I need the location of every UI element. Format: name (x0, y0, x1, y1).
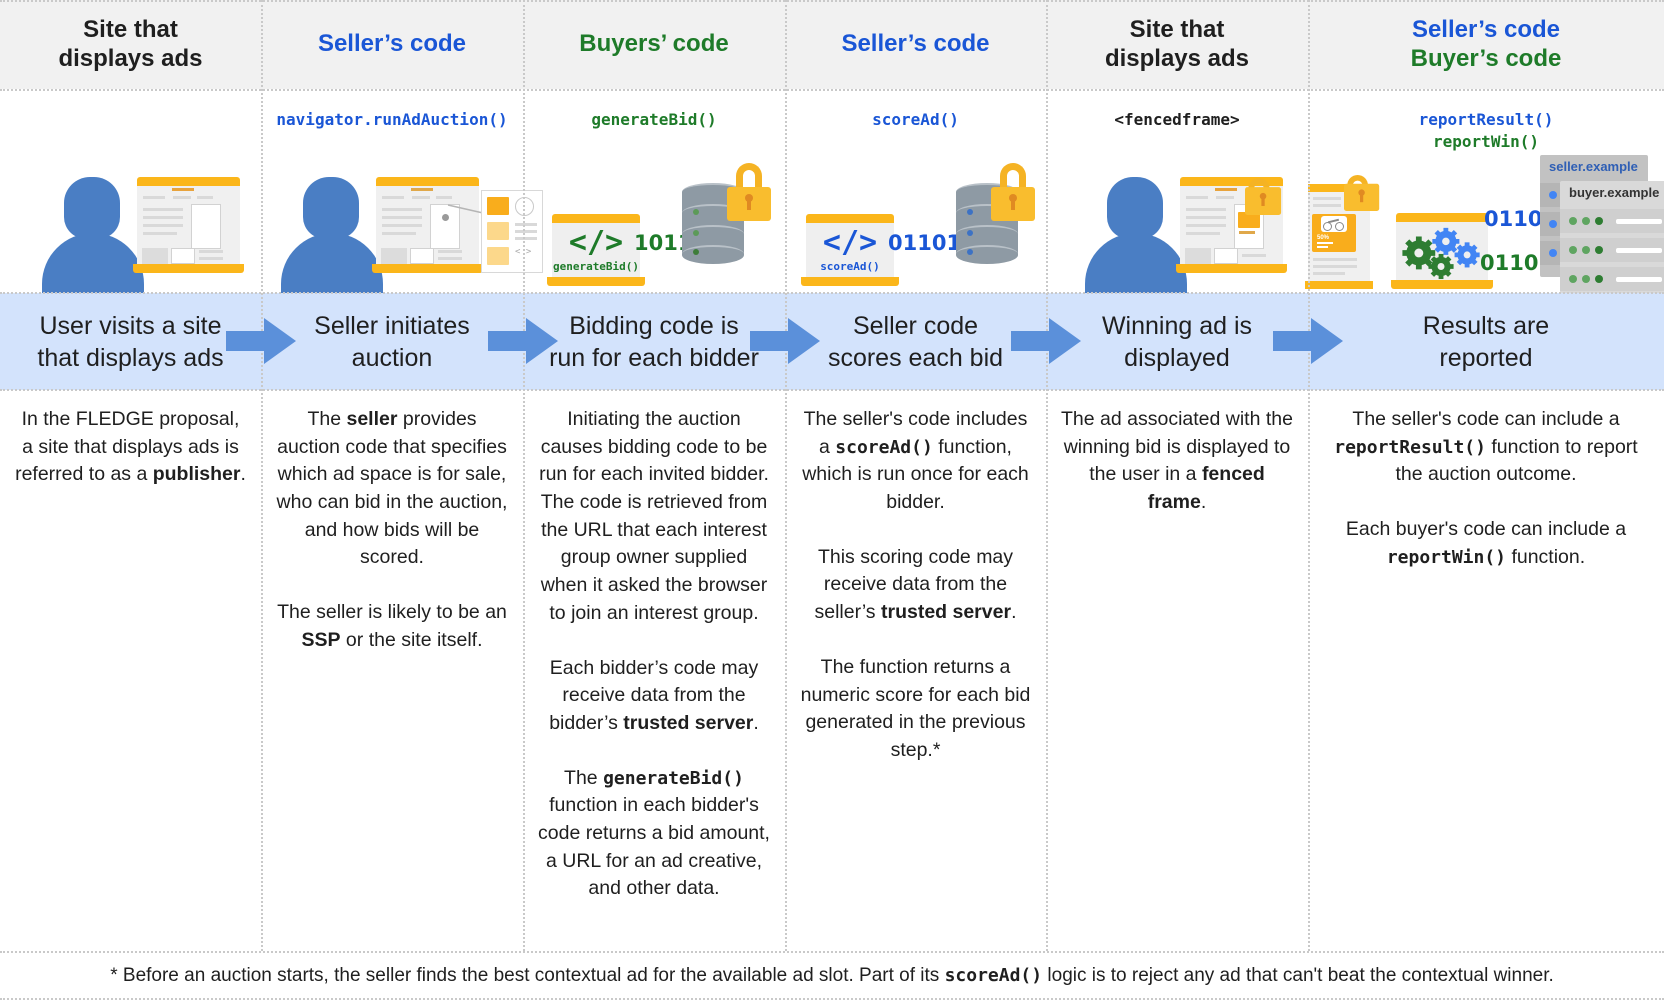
page-line (1216, 196, 1234, 199)
card-base (801, 277, 899, 286)
description-paragraph: The function returns a numeric score for… (799, 654, 1032, 765)
laptop-top-bar (137, 177, 240, 186)
laptop-base (133, 264, 244, 273)
padlock-body (991, 187, 1035, 221)
description-paragraph: The seller provides auction code that sp… (275, 406, 509, 572)
flow-arrow (226, 318, 296, 364)
api-name: scoreAd() (872, 109, 959, 131)
illustration-score-ad: </> scoreAd() 0110111 (806, 153, 1031, 293)
step-line: User visits a site (37, 310, 223, 342)
page-heading-accent (172, 188, 194, 191)
db-indicator (693, 249, 699, 255)
code-brackets-icon: </> (823, 228, 877, 258)
column-divider (785, 0, 787, 951)
illustration-row: < > </> generateBid() 1011110 (0, 148, 1664, 293)
card-screen: </> generateBid() (552, 223, 640, 277)
header-line: Site that (83, 16, 178, 44)
step-line: that displays ads (37, 342, 223, 374)
server-indicator (1595, 275, 1603, 283)
padlock-icon (1344, 175, 1371, 211)
page-line (173, 196, 191, 199)
code-card-label: generateBid() (553, 260, 639, 273)
page-line (143, 216, 183, 219)
column-divider (523, 0, 525, 951)
header-row: Site thatdisplays adsSeller’s codeBuyers… (0, 0, 1664, 89)
server-row (1560, 267, 1664, 291)
server-indicator (1569, 246, 1577, 254)
step-label-6: Results arereported (1308, 293, 1664, 390)
db-disk (682, 225, 744, 244)
step-line: run for each bidder (549, 342, 759, 374)
api-label-3: generateBid() (523, 89, 785, 154)
step-line: scores each bid (828, 342, 1003, 374)
server-indicator (1582, 275, 1590, 283)
person-body (1085, 233, 1187, 293)
code-card-generate-bid: </> generateBid() (552, 214, 640, 286)
page-heading-accent (1215, 188, 1237, 191)
description-paragraph: This scoring code may receive data from … (799, 544, 1032, 627)
panel-line (515, 230, 537, 233)
ad-slot (191, 204, 221, 249)
server-bar (1616, 248, 1662, 253)
padlock-body (727, 187, 771, 221)
api-name: generateBid() (591, 109, 716, 131)
person-body (42, 233, 144, 293)
header-line: displays ads (58, 45, 202, 73)
padlock-icon (727, 163, 771, 221)
server-indicator (1582, 246, 1590, 254)
step-line: Seller code (828, 310, 1003, 342)
step-label-1: User visits a sitethat displays ads (0, 293, 261, 390)
code-brackets-icon: </> (569, 228, 623, 258)
step-label-5: Winning ad isdisplayed (1046, 293, 1308, 390)
description-paragraph: The seller's code can include a reportRe… (1322, 406, 1650, 489)
ad-line (1239, 231, 1255, 234)
card-base (1391, 280, 1493, 289)
description-cell-1: In the FLEDGE proposal, a site that disp… (0, 390, 261, 952)
page-line (1186, 232, 1220, 235)
illustration-user-browsing (42, 153, 242, 293)
api-label-row: navigator.runAdAuction()generateBid()sco… (0, 89, 1664, 148)
description-paragraph: The generateBid() function in each bidde… (537, 765, 771, 903)
step-label-2: Seller initiatesauction (261, 293, 523, 390)
page-line (143, 232, 177, 235)
page-line (1186, 224, 1226, 227)
footnote: * Before an auction starts, the seller f… (0, 952, 1664, 1000)
server-row (1560, 209, 1664, 233)
api-name: navigator.runAdAuction() (276, 109, 507, 131)
padlock-keyhole (1260, 193, 1267, 200)
column-header-5: Site thatdisplays ads (1046, 0, 1308, 89)
server-row (1560, 238, 1664, 262)
flow-arrow (488, 318, 558, 364)
ad-discount-label: 50% (1317, 235, 1329, 241)
page-line (143, 208, 183, 211)
db-disk (682, 245, 744, 264)
step-label-4: Seller codescores each bid (785, 293, 1046, 390)
page-line (143, 196, 165, 199)
laptop-base (1176, 264, 1287, 273)
divider-band-top (0, 292, 1664, 294)
db-indicator (693, 230, 699, 236)
server-name: seller.example (1540, 155, 1648, 178)
bidder-row (487, 247, 509, 265)
api-label-1 (0, 89, 261, 154)
flow-diagram: Site thatdisplays adsSeller’s codeBuyers… (0, 0, 1664, 1000)
panel-line (515, 237, 537, 240)
person-head (1107, 177, 1163, 239)
api-name: <fencedframe> (1114, 109, 1239, 131)
column-divider (261, 0, 263, 951)
illustration-reporting: 50% (1308, 153, 1664, 293)
padlock-body (1344, 184, 1379, 211)
column-header-6: Seller’s codeBuyer’s code (1308, 0, 1664, 89)
description-paragraph: The seller's code includes a scoreAd() f… (799, 406, 1032, 517)
page-line (1313, 258, 1357, 261)
illustration-winning-ad (1085, 153, 1290, 293)
server-indicator (1549, 249, 1557, 257)
page-image-block (142, 248, 168, 264)
step-line: displayed (1102, 342, 1252, 374)
api-label-5: <fencedframe> (1046, 89, 1308, 154)
server-indicator (1549, 220, 1557, 228)
flow-arrow (1273, 318, 1343, 364)
padlock-keyhole (1358, 189, 1364, 195)
page-line (197, 196, 213, 199)
interest-group-list-panel: < > (481, 190, 543, 273)
description-row: In the FLEDGE proposal, a site that disp… (0, 390, 1664, 952)
db-indicator (967, 249, 973, 255)
db-disk (956, 245, 1018, 264)
column-header-4: Seller’s code (785, 0, 1046, 89)
person-head (64, 177, 120, 239)
padlock-icon (1245, 178, 1273, 215)
header-line: Buyers’ code (579, 30, 728, 58)
divider-top (0, 0, 1664, 2)
api-name: reportWin() (1433, 131, 1539, 153)
description-cell-2: The seller provides auction code that sp… (261, 390, 523, 952)
api-label-6: reportResult()reportWin() (1308, 89, 1664, 154)
flow-arrow (1011, 318, 1081, 364)
page-line (199, 257, 223, 260)
description-paragraph: Initiating the auction causes bidding co… (537, 406, 771, 628)
card-screen: </> scoreAd() (806, 223, 894, 277)
server-indicator (1569, 275, 1577, 283)
page-line (1313, 197, 1341, 200)
page-line (1186, 216, 1226, 219)
description-cell-3: Initiating the auction causes bidding co… (523, 390, 785, 952)
header-line: Seller’s code (1412, 16, 1560, 44)
padlock-keyhole (1009, 194, 1017, 202)
page-image-block (1214, 248, 1238, 264)
description-paragraph: The ad associated with the winning bid i… (1060, 406, 1294, 517)
step-line: Seller initiates (314, 310, 470, 342)
column-header-1: Site thatdisplays ads (0, 0, 261, 89)
step-line: auction (314, 342, 470, 374)
server-indicator (1569, 217, 1577, 225)
padlock-shackle (736, 163, 762, 187)
header-line: displays ads (1105, 45, 1249, 73)
description-paragraph: Each bidder’s code may receive data from… (537, 655, 771, 738)
laptop-screen-icon (137, 177, 240, 273)
page-line (1313, 265, 1357, 268)
step-label-3: Bidding code isrun for each bidder (523, 293, 785, 390)
divider-footnote (0, 951, 1664, 953)
header-line: Seller’s code (318, 30, 466, 58)
laptop-viewport (137, 186, 240, 264)
page-line (199, 250, 223, 253)
flow-arrow (750, 318, 820, 364)
card-top-bar (806, 214, 894, 223)
description-paragraph: The seller is likely to be an SSP or the… (275, 599, 509, 654)
header-line: Seller’s code (841, 30, 989, 58)
divider-band-bottom (0, 389, 1664, 391)
code-card-score-ad: </> scoreAd() (806, 214, 894, 286)
server-indicator (1595, 217, 1603, 225)
server-bar (1616, 277, 1662, 282)
description-paragraph: Each buyer's code can include a reportWi… (1322, 516, 1650, 571)
card-base (547, 277, 645, 286)
db-disk (956, 225, 1018, 244)
padlock-icon (991, 163, 1035, 221)
db-indicator (693, 209, 699, 215)
divider-header-bottom (0, 89, 1664, 91)
illustration-seller-auction: < > (281, 153, 526, 293)
server-buyer: buyer.example (1560, 181, 1664, 293)
db-indicator (967, 230, 973, 236)
person-icon (1085, 177, 1187, 293)
description-cell-5: The ad associated with the winning bid i… (1046, 390, 1308, 952)
page-line (1186, 196, 1208, 199)
server-indicator (1549, 191, 1557, 199)
page-line (1313, 272, 1345, 275)
api-name: reportResult() (1419, 109, 1554, 131)
bicycle-icon (1321, 216, 1347, 232)
card-screen (1396, 222, 1488, 280)
ad-banner: 50% (1312, 214, 1356, 252)
db-indicator (967, 209, 973, 215)
bidder-row (487, 222, 509, 240)
page-line (1313, 204, 1341, 207)
padlock-body (1245, 187, 1281, 215)
server-name: buyer.example (1560, 181, 1664, 204)
page-line (1242, 254, 1266, 257)
header-line: Site that (1130, 16, 1225, 44)
step-line: reported (1423, 342, 1549, 374)
description-paragraph: In the FLEDGE proposal, a site that disp… (14, 406, 247, 489)
column-header-2: Seller’s code (261, 0, 523, 89)
footnote-text: * Before an auction starts, the seller f… (110, 965, 1554, 987)
step-line: Results are (1423, 310, 1549, 342)
api-label-2: navigator.runAdAuction() (261, 89, 523, 154)
api-label-4: scoreAd() (785, 89, 1046, 154)
padlock-shackle (1000, 163, 1026, 187)
column-divider (1308, 0, 1310, 951)
step-line: Bidding code is (549, 310, 759, 342)
illustration-generate-bid: </> generateBid() 1011110 (552, 153, 777, 293)
page-image-block (1185, 248, 1211, 264)
gears-icon (1396, 224, 1488, 280)
server-indicator (1582, 217, 1590, 225)
person-icon (42, 177, 144, 293)
card-top-bar (552, 214, 640, 223)
padlock-keyhole (745, 194, 753, 202)
panel-line (515, 223, 537, 226)
code-card-reporting (1396, 213, 1488, 289)
description-cell-4: The seller's code includes a scoreAd() f… (785, 390, 1046, 952)
step-line: Winning ad is (1102, 310, 1252, 342)
code-card-label: scoreAd() (820, 260, 880, 273)
card-base (1305, 281, 1373, 289)
bidder-row-selected (487, 197, 509, 215)
column-divider (1046, 0, 1048, 951)
card-top-bar (1396, 213, 1488, 222)
page-line (1186, 208, 1226, 211)
column-header-3: Buyers’ code (523, 0, 785, 89)
header-line: Buyer’s code (1411, 45, 1562, 73)
description-cell-6: The seller's code can include a reportRe… (1308, 390, 1664, 952)
page-image-block (171, 248, 195, 264)
page-line (143, 224, 183, 227)
server-indicator (1595, 246, 1603, 254)
server-bar (1616, 219, 1662, 224)
